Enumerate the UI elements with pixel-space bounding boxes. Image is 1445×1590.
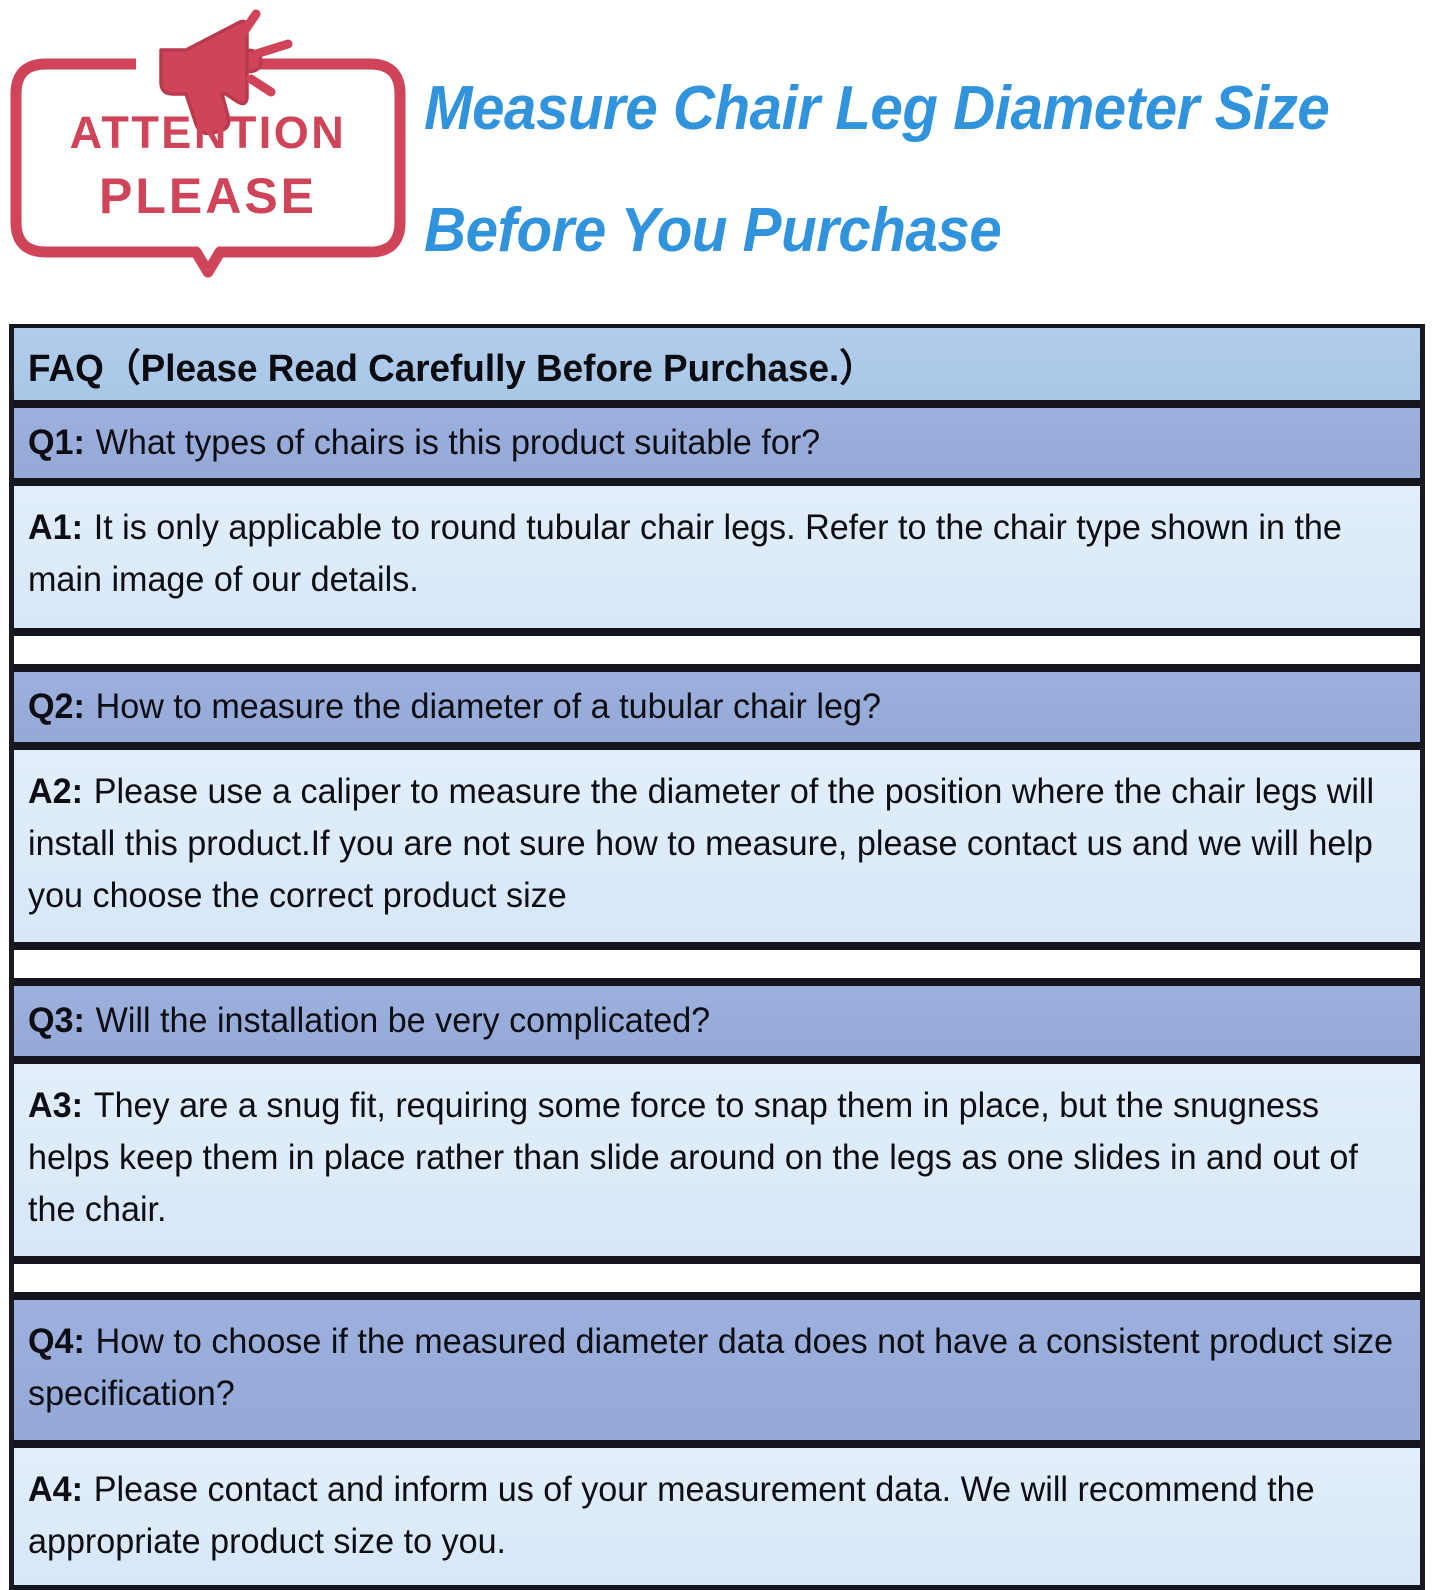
question-content: Q1:What types of chairs is this product … [28, 417, 1372, 469]
answer-text: It is only applicable to round tubular c… [28, 508, 1342, 599]
answer-text: Please use a caliper to measure the diam… [28, 772, 1374, 915]
faq-separator [14, 632, 1420, 668]
question-text: How to choose if the measured diameter d… [28, 1322, 1393, 1413]
faq-answer-row: A4:Please contact and inform us of your … [14, 1444, 1420, 1590]
faq-separator [14, 946, 1420, 982]
answer-content: A4:Please contact and inform us of your … [28, 1464, 1405, 1568]
faq-heading-row: FAQ（Please Read Carefully Before Purchas… [14, 324, 1420, 404]
faq-answer-row: A1:It is only applicable to round tubula… [14, 482, 1420, 632]
faq-question-row[interactable]: Q2:How to measure the diameter of a tubu… [14, 668, 1420, 746]
answer-label: A3: [28, 1086, 83, 1125]
answer-text: Please contact and inform us of your mea… [28, 1470, 1315, 1561]
answer-text: They are a snug fit, requiring some forc… [28, 1086, 1358, 1229]
faq-question-row[interactable]: Q4:How to choose if the measured diamete… [14, 1296, 1420, 1444]
question-content: Q3:Will the installation be very complic… [28, 995, 1372, 1047]
megaphone-ray-2 [256, 44, 288, 54]
faq-question-row[interactable]: Q3:Will the installation be very complic… [14, 982, 1420, 1060]
badge-outline-svg [8, 6, 408, 288]
question-label: Q1: [28, 423, 85, 462]
question-text: Will the installation be very complicate… [96, 1001, 711, 1040]
page-title-line-1: Measure Chair Leg Diameter Size [424, 48, 1373, 170]
answer-label: A2: [28, 772, 83, 811]
faq-table: FAQ（Please Read Carefully Before Purchas… [9, 324, 1425, 1590]
attention-please-badge: ATTENTION PLEASE [8, 6, 408, 288]
page-title: Measure Chair Leg Diameter Size Before Y… [424, 48, 1373, 292]
question-text: What types of chairs is this product sui… [96, 423, 821, 462]
question-content: Q2:How to measure the diameter of a tubu… [28, 681, 1372, 733]
question-label: Q2: [28, 687, 85, 726]
answer-label: A4: [28, 1470, 83, 1509]
question-label: Q4: [28, 1322, 85, 1361]
page-title-line-2: Before You Purchase [424, 170, 1373, 292]
faq-answer-row: A2:Please use a caliper to measure the d… [14, 746, 1420, 946]
header-band: ATTENTION PLEASE Measure Chair Leg Diame… [0, 0, 1445, 312]
faq-answer-row: A3:They are a snug fit, requiring some f… [14, 1060, 1420, 1260]
answer-content: A3:They are a snug fit, requiring some f… [28, 1080, 1405, 1236]
answer-content: A2:Please use a caliper to measure the d… [28, 766, 1405, 922]
answer-content: A1:It is only applicable to round tubula… [28, 502, 1405, 606]
faq-heading-text: FAQ（Please Read Carefully Before Purchas… [28, 337, 876, 392]
faq-separator [14, 1260, 1420, 1296]
megaphone-ray-1 [241, 14, 256, 36]
question-text: How to measure the diameter of a tubular… [96, 687, 881, 726]
faq-question-row[interactable]: Q1:What types of chairs is this product … [14, 404, 1420, 482]
question-content: Q4:How to choose if the measured diamete… [28, 1316, 1405, 1420]
answer-label: A1: [28, 508, 83, 547]
question-label: Q3: [28, 1001, 85, 1040]
